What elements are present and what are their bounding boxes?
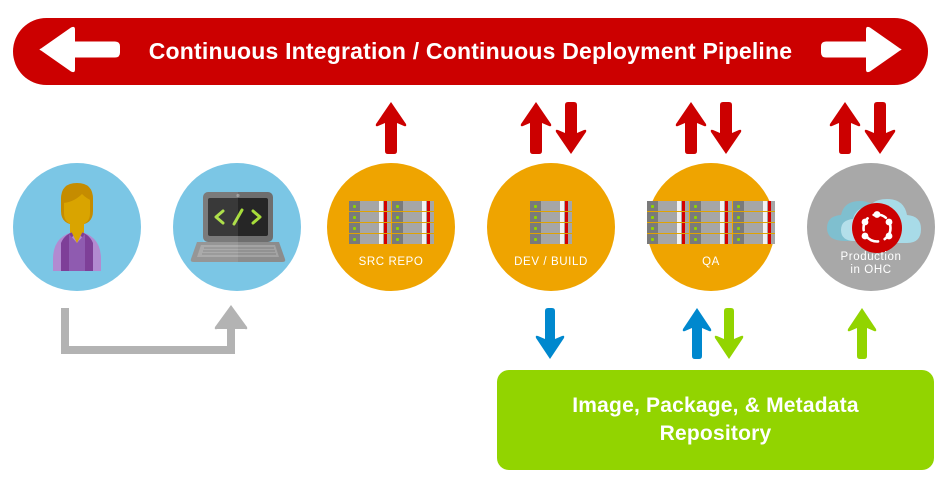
pipeline-banner: Continuous Integration / Continuous Depl… xyxy=(13,18,928,85)
rack-stack xyxy=(392,201,434,244)
repository-box[interactable]: Image, Package, & Metadata Repository xyxy=(497,370,934,470)
server-rack-icon xyxy=(487,201,615,244)
node-label-dev-build: DEV / BUILD xyxy=(487,256,615,269)
arrow-down-qa xyxy=(708,100,744,161)
person-icon xyxy=(39,181,115,273)
arrow-up-repo-production xyxy=(845,305,879,366)
rack-stack xyxy=(690,201,732,244)
arrow-right-icon xyxy=(820,24,906,79)
elbow-arrow-icon xyxy=(60,303,250,363)
node-label-production-line1: Production xyxy=(841,251,902,263)
arrow-down-dev-build xyxy=(553,100,589,161)
cicd-pipeline-diagram: Continuous Integration / Continuous Depl… xyxy=(0,0,941,500)
node-label-production: Production in OHC xyxy=(807,251,935,277)
node-qa[interactable]: QA xyxy=(647,163,775,291)
node-developer[interactable] xyxy=(13,163,141,291)
arrow-up-qa xyxy=(673,100,709,161)
rack-stack xyxy=(349,201,391,244)
arrow-up-dev-build xyxy=(518,100,554,161)
repository-label-line1: Image, Package, & Metadata xyxy=(572,394,859,417)
arrow-up-repo-qa xyxy=(680,305,714,366)
rack-stack xyxy=(733,201,775,244)
arrow-up-src-repo xyxy=(373,100,409,161)
arrow-down-repo-dev-build xyxy=(533,305,567,366)
repository-label-line2: Repository xyxy=(660,422,772,445)
repository-label: Image, Package, & Metadata Repository xyxy=(572,392,859,448)
laptop-code-icon xyxy=(189,190,285,264)
node-dev-build[interactable]: DEV / BUILD xyxy=(487,163,615,291)
arrow-left-icon xyxy=(35,24,121,79)
node-src-repo[interactable]: SRC REPO xyxy=(327,163,455,291)
arrow-down-production xyxy=(862,100,898,161)
node-workstation[interactable] xyxy=(173,163,301,291)
cloud-openshift-icon xyxy=(815,185,927,260)
rack-stack xyxy=(530,201,572,244)
node-label-qa: QA xyxy=(647,256,775,269)
arrow-up-production xyxy=(827,100,863,161)
arrow-down-repo-qa xyxy=(712,305,746,366)
server-rack-icon xyxy=(647,201,775,244)
banner-title: Continuous Integration / Continuous Depl… xyxy=(149,38,793,65)
node-label-src-repo: SRC REPO xyxy=(327,256,455,269)
node-label-production-line2: in OHC xyxy=(850,264,891,276)
server-rack-icon xyxy=(327,201,455,244)
node-production[interactable]: Production in OHC xyxy=(807,163,935,291)
rack-stack xyxy=(647,201,689,244)
